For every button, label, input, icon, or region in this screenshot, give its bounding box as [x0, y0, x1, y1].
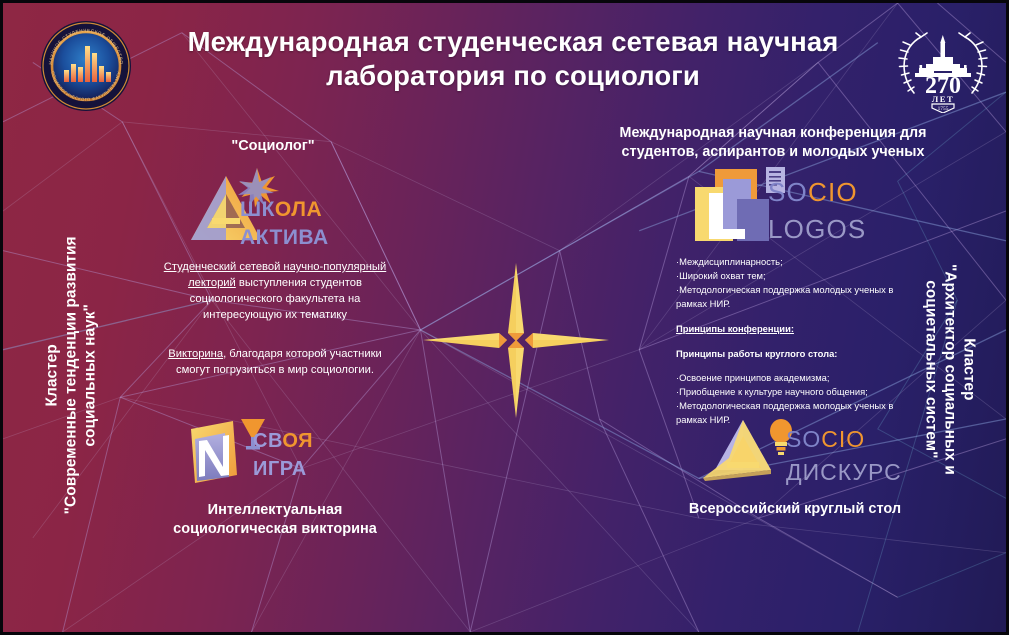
logos-word-part2: CIO: [808, 177, 858, 207]
heading-roundtable-principles: Принципы работы круглого стола:: [676, 347, 908, 361]
shkola-word-part2: ОЛА: [275, 198, 322, 221]
cluster-label-left: Кластер "Современные тенденции развития …: [44, 210, 101, 540]
socio-discurs-wordmark: SOCIO ДИСКУРС: [786, 423, 902, 488]
heading-conference-principles: Принципы конференции:: [676, 322, 908, 336]
shkola-word-part3: АКТИВА: [240, 226, 329, 249]
bullet-item: ·Приобщение к культуре научного общения;: [676, 385, 908, 399]
discurs-word-part1: SO: [786, 426, 821, 452]
shkola-aktiva-wordmark: ШКОЛА АКТИВА: [240, 196, 329, 251]
msu-founding-year: 1755: [938, 106, 949, 112]
bullet-item: ·Методологическая поддержка молодых учен…: [676, 283, 908, 311]
poster-canvas: НАУЧНОЕ СТУДЕНЧЕСКОЕ ОБЩЕСТВО СОЦИОЛОГИЧ…: [0, 0, 1009, 635]
socio-discurs-logo-mark: [703, 418, 799, 484]
svoya-word-part3: ИГРА: [253, 458, 307, 480]
school-description-2: Викторина, благодаря которой участники с…: [155, 346, 395, 378]
svoya-word-part1: СВ: [253, 430, 282, 452]
msu-270-unit: ЛЕТ: [932, 94, 954, 104]
cluster-label-right: Кластер "Архитектор социальных и социета…: [921, 204, 978, 534]
svoya-igra-caption: Интеллектуальная социологическая виктори…: [145, 501, 405, 538]
socio-logos-wordmark: SOCIO LOGOS: [768, 174, 866, 248]
bullet-item: ·Широкий охват тем;: [676, 269, 908, 283]
msu-270-anniversary-logo: 270 ЛЕТ 1755: [888, 21, 998, 113]
socio-discurs-caption: Всероссийский круглый стол: [665, 500, 925, 519]
logos-word-part3: LOGOS: [768, 214, 866, 244]
svoya-word-part2: ОЯ: [282, 430, 313, 452]
discurs-word-part2: CIO: [821, 426, 865, 452]
school-desc2-underline: Викторина: [168, 348, 223, 360]
bullet-item: ·Междисциплинарность;: [676, 255, 908, 269]
discurs-word-part3: ДИСКУРС: [786, 459, 902, 485]
page-title: Международная студенческая сетевая научн…: [153, 25, 873, 92]
bullet-item: ·Освоение принципов академизма;: [676, 371, 908, 385]
logos-word-part1: SO: [768, 177, 808, 207]
sociolog-tag: "Социолог": [153, 138, 393, 154]
nso-faculty-logo: НАУЧНОЕ СТУДЕНЧЕСКОЕ ОБЩЕСТВО СОЦИОЛОГИЧ…: [40, 20, 132, 112]
compass-rose: [421, 263, 611, 418]
conference-principles-block: ·Междисциплинарность; ·Широкий охват тем…: [676, 255, 908, 427]
svoya-igra-wordmark: СВОЯ ИГРА: [253, 428, 313, 483]
shkola-word-part1: ШК: [240, 198, 275, 221]
school-description-1: Студенческий сетевой научно-популярный л…: [155, 259, 395, 324]
conference-title: Международная научная конференция для ст…: [608, 124, 938, 161]
